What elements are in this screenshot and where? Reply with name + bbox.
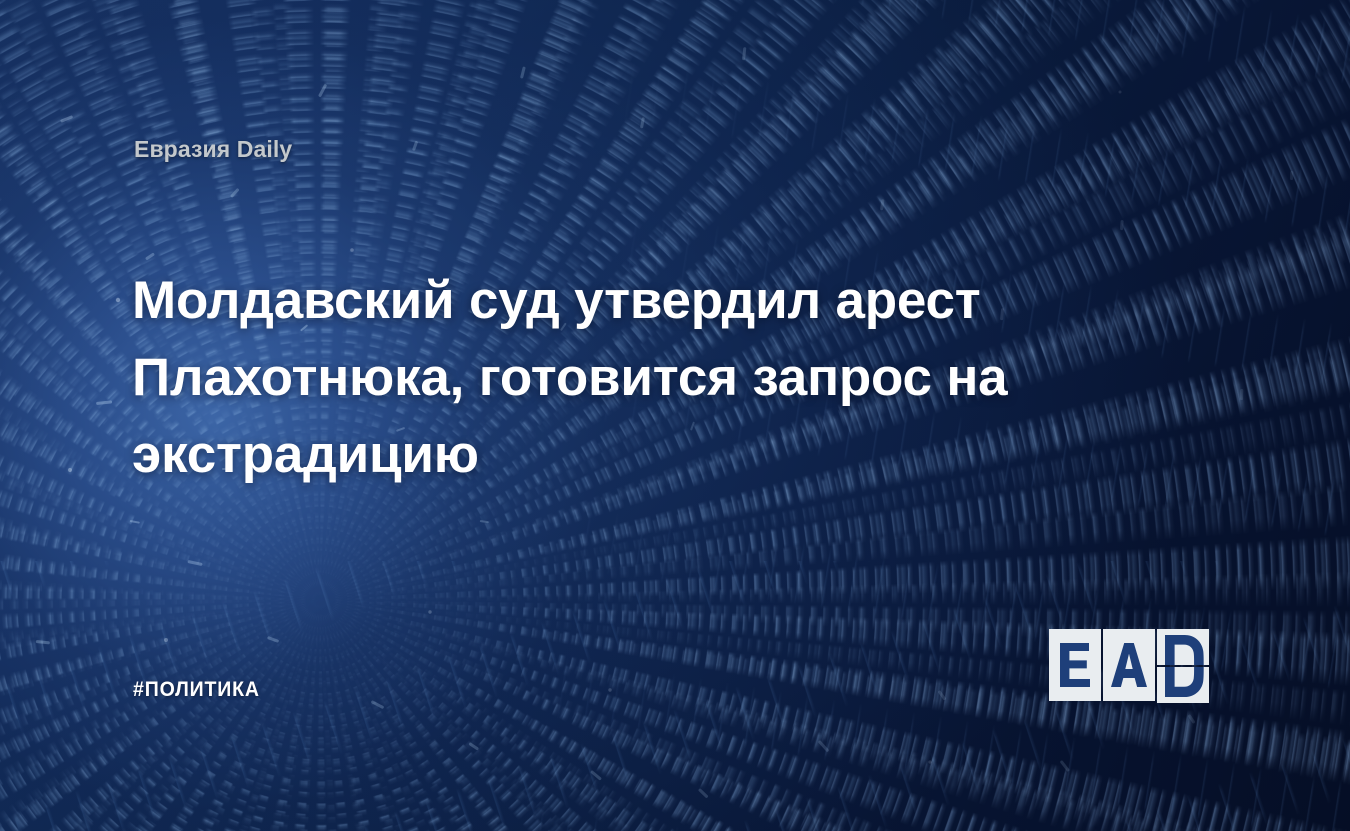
eadaily-logo[interactable] (1049, 629, 1223, 704)
letter-e-icon (1060, 643, 1090, 687)
logo-tile-a (1103, 629, 1155, 701)
page-title: Молдавский суд утвердил арест Плахотнюка… (132, 262, 1032, 493)
letter-d-split-icon-top (1157, 629, 1209, 665)
category-hashtag[interactable]: #ПОЛИТИКА (133, 678, 260, 702)
letter-d-split-icon-bottom (1157, 667, 1209, 703)
logo-tile-e (1049, 629, 1101, 701)
logo-tile-d (1157, 629, 1209, 704)
letter-a-icon (1111, 643, 1147, 687)
brand-name: Евразия Daily (134, 136, 292, 163)
eadaily-share-card: Евразия Daily Молдавский суд утвердил ар… (0, 0, 1350, 831)
card-content: Евразия Daily Молдавский суд утвердил ар… (0, 0, 1350, 831)
